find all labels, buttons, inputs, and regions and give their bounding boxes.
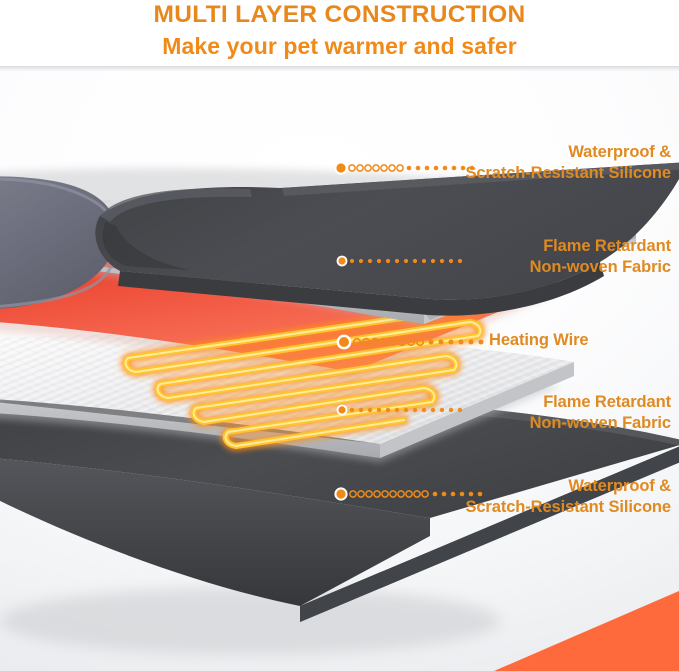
callout-line-1: Flame Retardant bbox=[543, 237, 671, 255]
header-banner: MULTI LAYER CONSTRUCTION Make your pet w… bbox=[0, 0, 679, 66]
leader-line-lower-fabric bbox=[336, 403, 471, 417]
page-title: MULTI LAYER CONSTRUCTION bbox=[0, 0, 679, 28]
multi-layer-construction-infographic: MULTI LAYER CONSTRUCTION Make your pet w… bbox=[0, 0, 679, 671]
callout-line-1: Heating Wire bbox=[489, 331, 589, 349]
header-divider bbox=[0, 66, 679, 71]
callout-line-2: Non-woven Fabric bbox=[530, 257, 671, 278]
callout-line-2: Scratch-Resistant Silicone bbox=[465, 163, 671, 184]
leader-line-heating-wire bbox=[336, 334, 488, 348]
callout-label-top-silicone: Waterproof & Scratch-Resistant Silicone bbox=[465, 142, 671, 184]
callout-label-heating-wire: Heating Wire bbox=[489, 330, 589, 351]
callout-line-2: Scratch-Resistant Silicone bbox=[465, 497, 671, 518]
page-subtitle: Make your pet warmer and safer bbox=[0, 28, 679, 58]
callout-label-upper-fabric: Flame Retardant Non-woven Fabric bbox=[530, 236, 671, 278]
leader-line-top-silicone bbox=[334, 161, 480, 175]
callout-label-bottom-silicone: Waterproof & Scratch-Resistant Silicone bbox=[465, 476, 671, 518]
callout-line-2: Non-woven Fabric bbox=[530, 413, 671, 434]
leader-line-bottom-silicone bbox=[334, 487, 484, 501]
callout-line-1: Waterproof & bbox=[568, 143, 671, 161]
leader-line-upper-fabric bbox=[336, 254, 471, 268]
callout-label-lower-fabric: Flame Retardant Non-woven Fabric bbox=[530, 392, 671, 434]
callout-line-1: Waterproof & bbox=[568, 477, 671, 495]
callout-line-1: Flame Retardant bbox=[543, 393, 671, 411]
